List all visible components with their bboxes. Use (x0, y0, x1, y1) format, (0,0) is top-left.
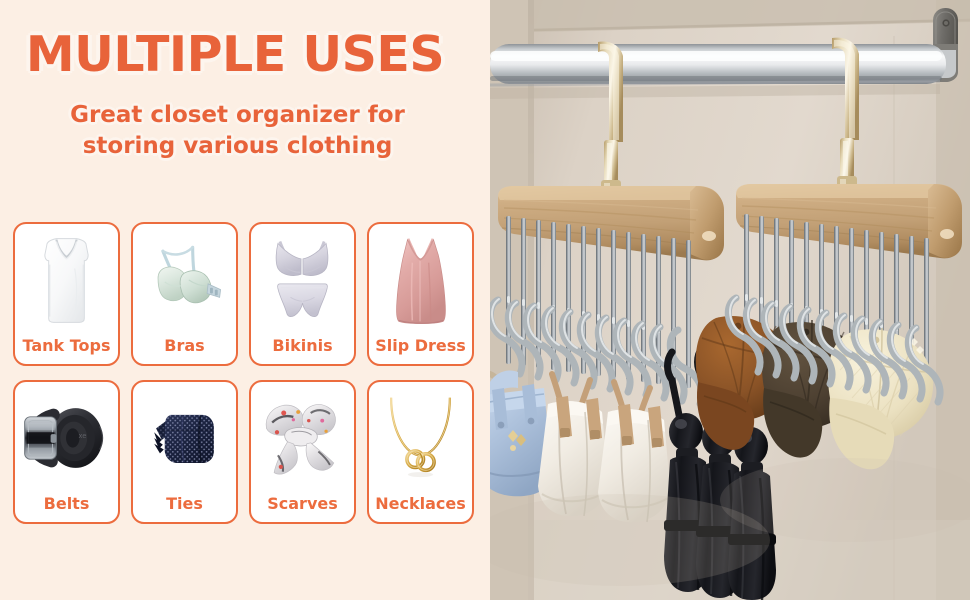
subtitle-line-2: storing various clothing (0, 131, 475, 162)
use-card-belts: xe Belts (13, 380, 120, 524)
left-text-panel: MULTIPLE USES Great closet organizer for… (0, 0, 490, 600)
use-card-label: Slip Dress (369, 336, 472, 355)
necktie-icon (133, 386, 236, 490)
subtitle-line-1: Great closet organizer for (0, 100, 475, 131)
use-case-grid: Tank Tops (13, 222, 475, 524)
use-card-label: Necklaces (369, 494, 472, 513)
use-card-necklaces: Necklaces (367, 380, 474, 524)
subtitle: Great closet organizer for storing vario… (0, 100, 475, 162)
bra-icon (133, 228, 236, 332)
bikini-icon (251, 228, 354, 332)
use-card-tank-tops: Tank Tops (13, 222, 120, 366)
use-card-label: Ties (133, 494, 236, 513)
tank-top-icon (15, 228, 118, 332)
use-card-ties: Ties (131, 380, 238, 524)
use-card-label: Tank Tops (15, 336, 118, 355)
use-card-label: Scarves (251, 494, 354, 513)
page-title: MULTIPLE USES (0, 26, 470, 84)
necklace-icon (369, 386, 472, 490)
scarf-icon (251, 386, 354, 490)
product-photo (490, 0, 970, 600)
use-card-label: Belts (15, 494, 118, 513)
use-card-slip-dress: Slip Dress (367, 222, 474, 366)
use-card-bikinis: Bikinis (249, 222, 356, 366)
use-card-scarves: Scarves (249, 380, 356, 524)
use-card-bras: Bras (131, 222, 238, 366)
svg-text:xe: xe (79, 432, 87, 440)
belt-icon: xe (15, 386, 118, 490)
use-card-label: Bikinis (251, 336, 354, 355)
product-infographic: MULTIPLE USES Great closet organizer for… (0, 0, 970, 600)
use-card-label: Bras (133, 336, 236, 355)
slip-dress-icon (369, 228, 472, 332)
